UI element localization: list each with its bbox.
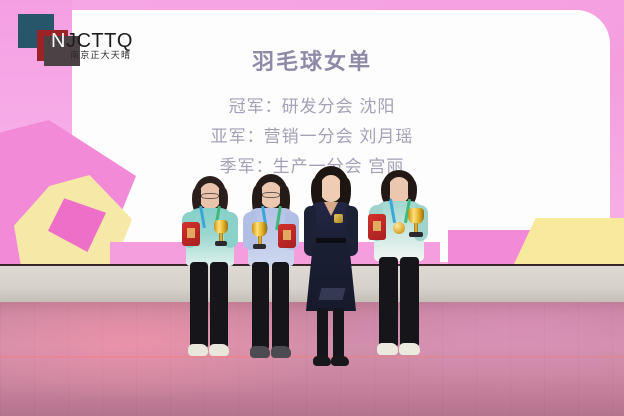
trophy-base <box>409 232 423 237</box>
shoe-left <box>377 343 398 355</box>
trophy-base <box>215 241 227 246</box>
shoe-left <box>250 346 270 358</box>
leg-left <box>252 262 269 350</box>
leg-right <box>210 262 228 348</box>
leg-right <box>333 308 344 360</box>
result-rank-label: 冠军 <box>229 97 265 116</box>
leg-right <box>400 257 419 347</box>
glasses <box>262 192 280 198</box>
leg-left <box>190 262 208 348</box>
shoe-left <box>313 356 331 366</box>
result-row-champion: 冠军：研发分会 沈阳 <box>0 92 624 122</box>
certificate-emblem <box>373 221 381 231</box>
result-rank-label: 亚军 <box>211 127 247 146</box>
brooch-icon <box>334 214 343 223</box>
dress-skirt <box>306 243 356 311</box>
person-athlete-runner-up <box>238 174 304 374</box>
shoe-left <box>188 344 208 356</box>
trophy-cup <box>252 222 267 237</box>
leg-left <box>317 308 328 360</box>
glasses <box>201 193 219 199</box>
result-separator: ： <box>247 127 264 146</box>
shoe-right <box>271 346 291 358</box>
leg-left <box>379 257 398 347</box>
result-person-name: 刘月瑶 <box>359 127 413 146</box>
event-title: 羽毛球女单 <box>0 44 624 76</box>
shoe-right <box>209 344 229 356</box>
shoe-right <box>331 356 349 366</box>
result-separator: ： <box>265 97 282 116</box>
trophy-base <box>253 244 266 249</box>
person-athlete-third-place <box>364 170 432 374</box>
person-athlete-champion <box>176 176 244 374</box>
trophy-cup <box>408 208 424 224</box>
award-ceremony-photo: NJCTTQ 南京正大天晴 羽毛球女单 冠军：研发分会 沈阳 亚军：营销一分会 … <box>0 0 624 416</box>
shoe-right <box>399 343 420 355</box>
result-team: 研发分会 <box>282 97 354 116</box>
certificate-emblem <box>187 228 195 238</box>
person-presenter <box>300 166 362 374</box>
trophy-cup <box>214 220 228 234</box>
certificate-emblem <box>283 230 291 240</box>
medal <box>393 222 405 234</box>
result-team: 营销一分会 <box>264 127 354 146</box>
face <box>320 175 342 202</box>
dress-panel-accent <box>319 288 346 300</box>
result-person-name: 沈阳 <box>359 97 395 116</box>
leg-right <box>272 262 289 350</box>
result-row-runner-up: 亚军：营销一分会 刘月瑶 <box>0 122 624 152</box>
